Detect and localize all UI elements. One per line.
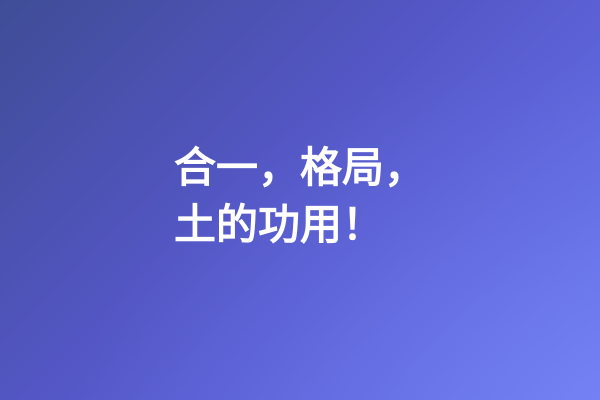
quote-line-2: 土的功用！ (174, 196, 426, 253)
quote-card: 合一，格局， 土的功用！ (0, 0, 600, 400)
quote-text-block: 合一，格局， 土的功用！ (174, 139, 426, 253)
quote-line-1: 合一，格局， (174, 139, 426, 196)
